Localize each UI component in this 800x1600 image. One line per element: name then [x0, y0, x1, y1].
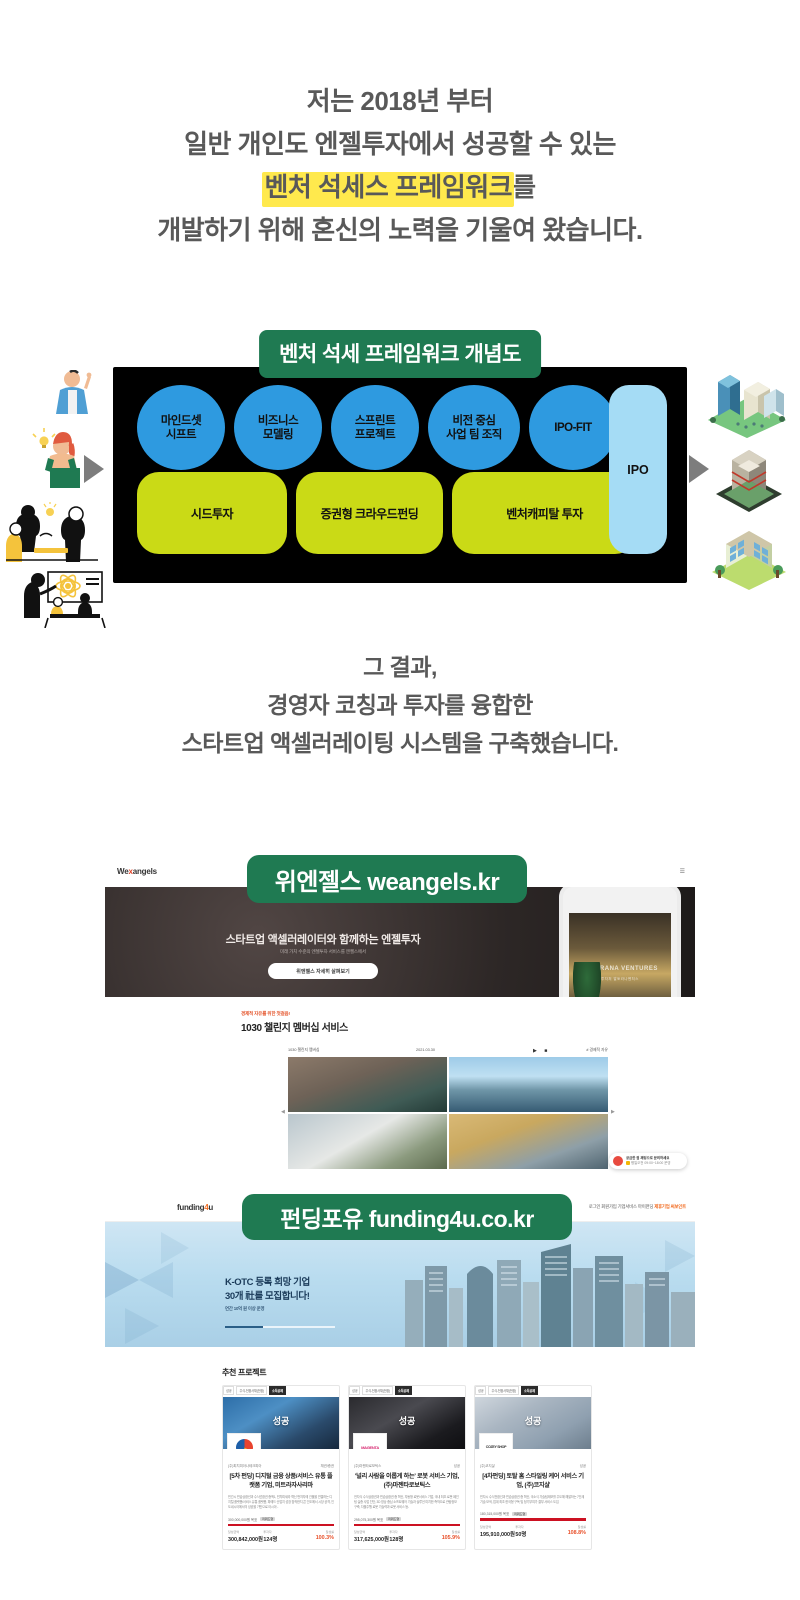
phone-screen: ALTORANA VENTURES 투자처 알토라나벤처스: [569, 913, 671, 997]
headline-line-1: 저는 2018년 부터: [0, 80, 800, 123]
headline-highlight: 벤처 석세스 프레임워크: [264, 166, 512, 209]
gallery-date: 2021.03.30: [416, 1048, 435, 1052]
chat-badge-icon: [626, 1161, 630, 1165]
card-meta: (주)피치피아나테크피아 채권/증권: [223, 1449, 339, 1468]
cozyshop-logo: COZEY SHOP: [479, 1433, 513, 1449]
card-stat-amount: 달성금액 195,910,000원: [480, 1525, 515, 1538]
card-meta-right: 채권/증권: [321, 1463, 334, 1468]
project-card[interactable]: 성공 주식-전환사채(전환) 소득공제 성공 (주)피치피아나테크피아 채권/증…: [222, 1385, 340, 1550]
funding4u-hero-line2: 30개 社를 모집합니다!: [225, 1290, 310, 1304]
card-stat-investors: 투자자 50명: [515, 1525, 550, 1538]
card-description: 전자식 수식상환권과 핀습상환권 증 혁신, 자동형 로봇서비스 기업, 국내 …: [349, 1490, 465, 1511]
card-thumbnail: 성공: [223, 1397, 339, 1449]
result-block: 그 결과, 경영자 코칭과 투자를 융합한 스타트업 액셀러레이팅 시스템을 구…: [0, 648, 800, 762]
weangels-section-heading: 1030 챌린지 멤버십 서비스: [241, 1019, 348, 1034]
diagram-top-row: 마인드셋시프트 비즈니스모델링 스프린트프로젝트 비전 중심사업 팀 조직 IP…: [137, 385, 617, 470]
result-line-3: 스타트업 액셀러레이팅 시스템을 구축했습니다.: [0, 724, 800, 762]
menu-icon[interactable]: ☰: [680, 868, 685, 875]
plant-decoration: [573, 962, 601, 997]
diagram-node-ipo: IPO: [609, 385, 667, 554]
tag-status: 성공: [349, 1386, 360, 1395]
funding4u-hero: K-OTC 등록 희망 기업 30개 社를 모집합니다! 연간 10억 원 이상…: [105, 1222, 695, 1347]
card-stat-rate: 달성률 100.3%: [299, 1530, 334, 1543]
card-thumbnail: 성공 COZEY SHOP: [475, 1397, 591, 1449]
card-meta: (주)마젠타로보틱스 성공: [349, 1449, 465, 1468]
card-goal-amount: 300,000,000원 목표: [228, 1517, 257, 1522]
funding4u-hero-line3: 연간 10억 원 이상 운영: [225, 1306, 310, 1312]
card-company: (주)코지샬: [480, 1463, 495, 1468]
tag-type: 주식-전환사채(전환): [236, 1386, 266, 1395]
card-stats: 달성금액 195,910,000원 투자자 50명 달성률 108.8%: [475, 1521, 591, 1544]
weangels-kicker: 경제적 자유를 위한 첫걸음!: [241, 1011, 290, 1017]
funding4u-menu[interactable]: 로그인 회원가입 기업서비스 마이펀딩 제휴기업 써보인트: [589, 1204, 686, 1210]
funding4u-hero-copy: K-OTC 등록 희망 기업 30개 社를 모집합니다! 연간 10억 원 이상…: [225, 1276, 310, 1312]
card-tags: 성공 주식-전환사채(전환) 소득공제: [349, 1386, 465, 1397]
weangels-hero-subtitle: 미래 가치 수준의 엔젤투자 서비스를 엔젤스에서: [193, 949, 453, 955]
card-stats: 달성금액 317,625,000원 투자자 128명 달성률 105.9%: [349, 1526, 465, 1549]
gallery-next-icon[interactable]: ▶: [611, 1109, 615, 1115]
city-skyscrapers-icon: [704, 368, 790, 438]
diagram-node-business-modeling: 비즈니스모델링: [234, 385, 322, 470]
card-title: [4차펀딩] 토탈 홈 스타일링 케어 서비스 기업, (주)코지샬: [475, 1468, 591, 1490]
card-thumbnail: 성공 MAGENTA: [349, 1397, 465, 1449]
result-line-2: 경영자 코칭과 투자를 융합한: [0, 686, 800, 724]
weangels-logo[interactable]: Wexangels: [117, 867, 157, 876]
chat-subtitle: 평일오전 09:00~18:00 운영: [626, 1161, 671, 1165]
gallery-photo-family[interactable]: [449, 1114, 608, 1169]
highlight-text: 벤처 석세스 프레임워크: [264, 172, 512, 202]
card-success-badge: 성공: [349, 1414, 465, 1427]
diagram-node-mindset: 마인드셋시프트: [137, 385, 225, 470]
magenta-logo: MAGENTA: [353, 1433, 387, 1449]
card-success-badge: 성공: [223, 1414, 339, 1427]
card-goal: 295,075,300원 목표 리워드형: [349, 1511, 465, 1524]
diagram-title: 벤처 석세 프레임워크 개념도: [259, 330, 541, 378]
card-meta-right: 성공: [454, 1463, 460, 1468]
gallery-toolbar: 1030 챌린지 멤버십 2021.03.30 ▶ ■ # 경제적 자유: [288, 1047, 608, 1056]
weangels-hero: 스타트업 액셀러레이터와 함께하는 엔젤투자 미래 가치 수준의 엔젤투자 서비…: [105, 887, 695, 997]
headline-line-3: 벤처 석세스 프레임워크 를: [0, 166, 800, 209]
office-tower-icon: [714, 444, 784, 514]
card-stat-amount: 달성금액 300,842,000원: [228, 1530, 263, 1543]
framework-diagram: 벤처 석세 프레임워크 개념도 마인드셋시프트 비즈니스모델링 스프린트프로젝트…: [0, 330, 800, 600]
tag-status: 성공: [475, 1386, 486, 1395]
card-tags: 성공 주식-전환사채(전환) 소득공제: [223, 1386, 339, 1397]
gallery-photo-camper[interactable]: [288, 1114, 447, 1169]
card-stat-investors: 투자자 124명: [263, 1530, 298, 1543]
weangels-hero-button[interactable]: 위엔젤스 자세히 살펴보기: [268, 963, 378, 979]
gallery-photo-traveler[interactable]: [288, 1057, 447, 1112]
card-tags: 성공 주식-전환사채(전환) 소득공제: [475, 1386, 591, 1397]
promo-page: 저는 2018년 부터 일반 개인도 엔젤투자에서 성공할 수 있는 벤처 석세…: [0, 0, 800, 1600]
flow-arrow-right-icon: [689, 455, 709, 483]
card-stat-rate: 달성률 108.8%: [551, 1525, 586, 1538]
play-stop-icon[interactable]: ▶ ■: [533, 1048, 550, 1054]
diagram-node-crowdfunding: 증권형 크라우드펀딩: [296, 472, 443, 554]
card-meta-right: 성공: [580, 1463, 586, 1468]
flow-arrow-left-icon: [84, 455, 104, 483]
photo-gallery: [288, 1057, 608, 1169]
diagram-node-seed-investment: 시드투자: [137, 472, 287, 554]
gallery-hashtag: # 경제적 자유: [586, 1048, 608, 1053]
gallery-photo-cruise[interactable]: [449, 1057, 608, 1112]
gallery-prev-icon[interactable]: ◀: [281, 1109, 285, 1115]
kyocera-logo: [227, 1433, 261, 1449]
result-line-1: 그 결과,: [0, 648, 800, 686]
card-meta: (주)코지샬 성공: [475, 1449, 591, 1468]
card-success-badge: 성공: [475, 1414, 591, 1427]
tag-type: 주식-전환사채(전환): [362, 1386, 392, 1395]
project-card[interactable]: 성공 주식-전환사채(전환) 소득공제 성공 MAGENTA (주)마젠타로보틱…: [348, 1385, 466, 1550]
small-building-icon: [710, 520, 788, 590]
chat-text: 궁금한 점 채팅으로 문의하세요 평일오전 09:00~18:00 운영: [626, 1156, 671, 1165]
city-silhouette: [405, 1244, 695, 1347]
card-description: 민자시 수식전환선과 핀습상환권 증 혁신, 국소식 가술팀제보를 주도해 해발…: [475, 1490, 591, 1505]
chat-widget[interactable]: 궁금한 점 채팅으로 문의하세요 평일오전 09:00~18:00 운영: [609, 1153, 687, 1169]
tag-deduction: 소득공제: [395, 1386, 412, 1395]
weangels-site-label: 위엔젤스 weangels.kr: [247, 855, 527, 903]
card-goal-amount: 295,075,300원 목표: [354, 1517, 383, 1522]
diagram-bottom-row: 시드투자 증권형 크라우드펀딩 벤처캐피탈 투자: [137, 472, 637, 554]
card-goal-amount: 180,315,000원 목표: [480, 1511, 509, 1516]
diagram-board: 마인드셋시프트 비즈니스모델링 스프린트프로젝트 비전 중심사업 팀 조직 IP…: [113, 367, 687, 583]
card-stat-rate: 달성률 105.9%: [425, 1530, 460, 1543]
gallery-label: 1030 챌린지 멤버십: [288, 1048, 320, 1053]
weangels-section: 경제적 자유를 위한 첫걸음! 1030 챌린지 멤버십 서비스 1030 챌린…: [105, 997, 695, 1175]
project-card[interactable]: 성공 주식-전환사채(전환) 소득공제 성공 COZEY SHOP (주)코지샬…: [474, 1385, 592, 1550]
tag-deduction: 소득공제: [521, 1386, 538, 1395]
funding4u-site-label: 펀딩포유 funding4u.co.kr: [242, 1194, 572, 1240]
weangels-hero-title: 스타트업 액셀러레이터와 함께하는 엔젤투자: [193, 931, 453, 947]
headline-line-4: 개발하기 위해 혼신의 노력을 기울여 왔습니다.: [0, 209, 800, 252]
tag-status: 성공: [223, 1386, 234, 1395]
card-goal-badge: 리워드형: [386, 1517, 401, 1521]
projects-heading: 추천 프로젝트: [222, 1367, 266, 1378]
highlight-tail: 를: [512, 172, 535, 202]
card-goal: 300,000,000원 목표 리워드형: [223, 1511, 339, 1524]
card-stats: 달성금액 300,842,000원 투자자 124명 달성률 100.3%: [223, 1526, 339, 1549]
project-card-list: 성공 주식-전환사채(전환) 소득공제 성공 (주)피치피아나테크피아 채권/증…: [222, 1385, 592, 1550]
card-stat-amount: 달성금액 317,625,000원: [354, 1530, 389, 1543]
diagram-node-ipo-fit: IPO-FIT: [529, 385, 617, 470]
tag-type: 주식-전환사채(전환): [488, 1386, 518, 1395]
card-title: '널리 사람을 이롭게 하는' 로봇 서비스 기업, (주)마젠타로보틱스: [349, 1468, 465, 1490]
card-goal-badge: 리워드형: [512, 1512, 527, 1516]
tag-deduction: 소득공제: [269, 1386, 286, 1395]
funding4u-logo[interactable]: funding4u: [177, 1203, 213, 1212]
funding4u-hero-line1: K-OTC 등록 희망 기업: [225, 1276, 310, 1290]
card-stat-investors: 투자자 128명: [389, 1530, 424, 1543]
headline-line-2: 일반 개인도 엔젤투자에서 성공할 수 있는: [0, 123, 800, 166]
card-goal: 180,315,000원 목표 리워드형: [475, 1505, 591, 1518]
card-title: [5차 펀딩] 디지털 금융 상품/서비스 유통 플랫폼 기업, 미트라자사리마: [223, 1468, 339, 1490]
card-company: (주)피치피아나테크피아: [228, 1463, 261, 1468]
phone-mockup: ALTORANA VENTURES 투자처 알토라나벤처스: [559, 887, 681, 997]
card-goal-badge: 리워드형: [260, 1517, 275, 1521]
hero-carousel-progress[interactable]: [225, 1326, 335, 1328]
chat-avatar-icon: [613, 1156, 623, 1166]
card-company: (주)마젠타로보틱스: [354, 1463, 381, 1468]
headline-block: 저는 2018년 부터 일반 개인도 엔젤투자에서 성공할 수 있는 벤처 석세…: [0, 80, 800, 252]
diagram-node-sprint-project: 스프린트프로젝트: [331, 385, 419, 470]
projects-section: 추천 프로젝트 성공 주식-전환사채(전환) 소득공제 성공 (주)피치피아나테…: [105, 1347, 695, 1600]
diagram-node-vision-team: 비전 중심사업 팀 조직: [428, 385, 520, 470]
card-description: 민간시 핀습상환년과 수식선환권 증액1, 민차피세라 혁신 펀처자에 건물을 …: [223, 1490, 339, 1511]
hero-background-graphics: [105, 1222, 695, 1347]
